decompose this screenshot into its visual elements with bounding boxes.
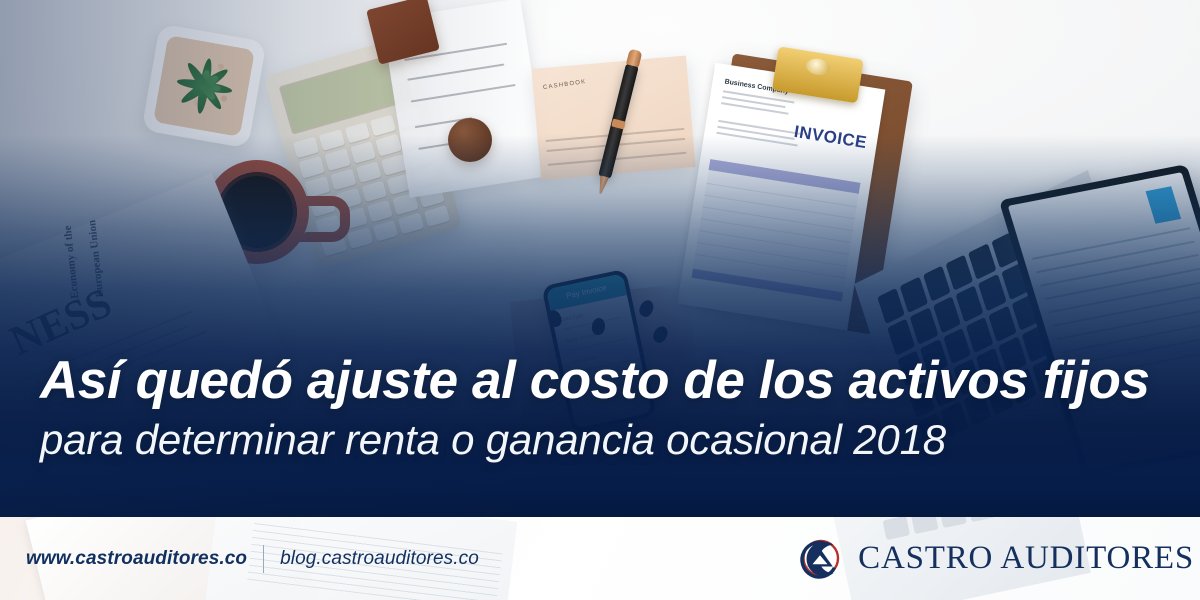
- footer-links: www.castroauditores.co blog.castroaudito…: [26, 545, 479, 573]
- promo-banner: CASHBOOK Business Company INVOICE: [0, 0, 1200, 600]
- link-separator: [263, 545, 264, 573]
- website-link[interactable]: www.castroauditores.co: [26, 548, 247, 570]
- footer-bar: www.castroauditores.co blog.castroaudito…: [0, 517, 1200, 600]
- headline: Así quedó ajuste al costo de los activos…: [40, 354, 1170, 408]
- subheadline: para determinar renta o ganancia ocasion…: [40, 418, 1170, 462]
- blog-link[interactable]: blog.castroauditores.co: [280, 548, 479, 570]
- brand-lockup[interactable]: CASTRO AUDITORES: [796, 535, 1194, 583]
- castro-auditores-logo-icon: [796, 535, 844, 583]
- brand-wordmark: CASTRO AUDITORES: [858, 540, 1194, 577]
